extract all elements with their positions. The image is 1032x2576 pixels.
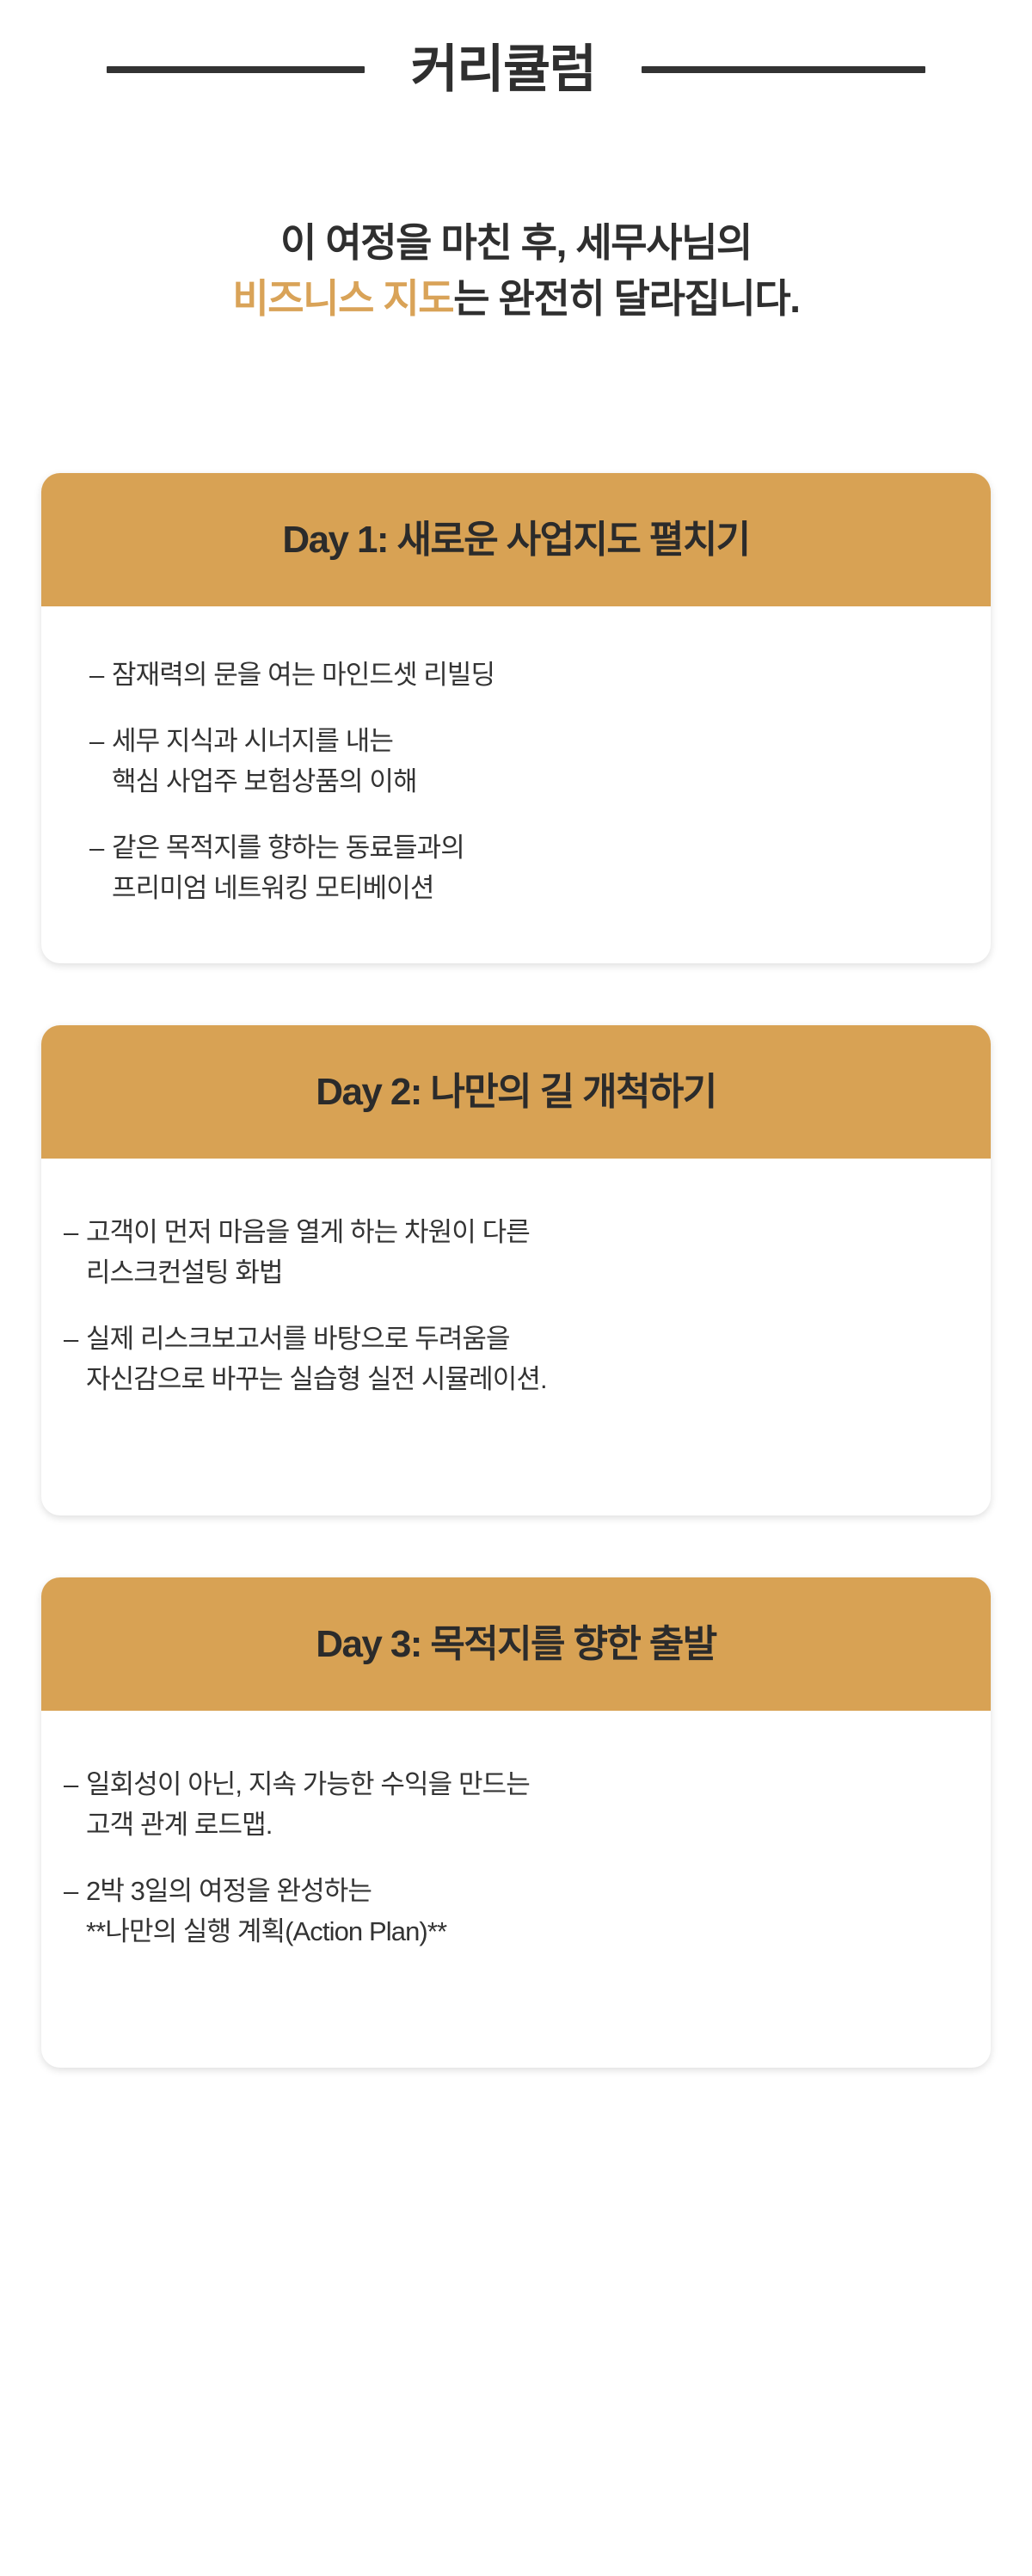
- list-item-text: 실제 리스크보고서를 바탕으로 두려움을 자신감으로 바꾸는 실습형 실전 시뮬…: [86, 1319, 943, 1399]
- list-item-text: 잠재력의 문을 여는 마인드셋 리빌딩: [112, 655, 943, 695]
- curriculum-page: 커리큘럼 이 여정을 마친 후, 세무사님의 비즈니스 지도는 완전히 달라집니…: [0, 0, 1032, 2576]
- curriculum-card-list: Day 1: 새로운 사업지도 펼치기 – 잠재력의 문을 여는 마인드셋 리빌…: [41, 473, 991, 2068]
- card-header-day-3: Day 3: 목적지를 향한 출발: [41, 1577, 991, 1711]
- card-title-day-1: Day 1: 새로운 사업지도 펼치기: [282, 521, 749, 559]
- dash-bullet-icon: –: [64, 1212, 86, 1252]
- card-header-day-2: Day 2: 나만의 길 개척하기: [41, 1025, 991, 1159]
- curriculum-card-day-2: Day 2: 나만의 길 개척하기 – 고객이 먼저 마음을 열게 하는 차원이…: [41, 1025, 991, 1515]
- dash-bullet-icon: –: [64, 1871, 86, 1911]
- subtitle-rest-text: 는 완전히 달라집니다.: [453, 276, 799, 321]
- subtitle-line-2: 비즈니스 지도는 완전히 달라집니다.: [0, 271, 1032, 327]
- list-item: – 일회성이 아닌, 지속 가능한 수익을 만드는 고객 관계 로드맵.: [64, 1764, 943, 1845]
- card-body-day-1: – 잠재력의 문을 여는 마인드셋 리빌딩 – 세무 지식과 시너지를 내는 핵…: [41, 606, 991, 963]
- list-item-text: 같은 목적지를 향하는 동료들과의 프리미엄 네트워킹 모티베이션: [112, 827, 943, 908]
- list-item: – 2박 3일의 여정을 완성하는 **나만의 실행 계획(Action Pla…: [64, 1871, 943, 1952]
- list-item: – 같은 목적지를 향하는 동료들과의 프리미엄 네트워킹 모티베이션: [89, 827, 943, 908]
- list-item-text: 2박 3일의 여정을 완성하는 **나만의 실행 계획(Action Plan)…: [86, 1871, 943, 1952]
- dash-bullet-icon: –: [89, 655, 112, 695]
- subtitle-line-1: 이 여정을 마친 후, 세무사님의: [0, 215, 1032, 271]
- header-rule-right-icon: [642, 66, 925, 73]
- curriculum-card-day-3: Day 3: 목적지를 향한 출발 – 일회성이 아닌, 지속 가능한 수익을 …: [41, 1577, 991, 2068]
- dash-bullet-icon: –: [64, 1764, 86, 1804]
- bullet-list-day-1: – 잠재력의 문을 여는 마인드셋 리빌딩 – 세무 지식과 시너지를 내는 핵…: [89, 655, 943, 909]
- list-item-text: 고객이 먼저 마음을 열게 하는 차원이 다른 리스크컨설팅 화법: [86, 1212, 943, 1293]
- list-item: – 세무 지식과 시너지를 내는 핵심 사업주 보험상품의 이해: [89, 721, 943, 802]
- page-header: 커리큘럼: [0, 24, 1032, 114]
- subtitle: 이 여정을 마친 후, 세무사님의 비즈니스 지도는 완전히 달라집니다.: [0, 215, 1032, 328]
- bullet-list-day-3: – 일회성이 아닌, 지속 가능한 수익을 만드는 고객 관계 로드맵. – 2…: [64, 1764, 943, 1952]
- list-item: – 실제 리스크보고서를 바탕으로 두려움을 자신감으로 바꾸는 실습형 실전 …: [64, 1319, 943, 1399]
- subtitle-accent-text: 비즈니스 지도: [232, 276, 453, 321]
- dash-bullet-icon: –: [89, 827, 112, 868]
- card-body-day-2: – 고객이 먼저 마음을 열게 하는 차원이 다른 리스크컨설팅 화법 – 실제…: [41, 1159, 991, 1515]
- card-header-day-1: Day 1: 새로운 사업지도 펼치기: [41, 473, 991, 606]
- card-title-day-3: Day 3: 목적지를 향한 출발: [316, 1626, 716, 1663]
- header-rule-left-icon: [107, 66, 365, 73]
- card-body-day-3: – 일회성이 아닌, 지속 가능한 수익을 만드는 고객 관계 로드맵. – 2…: [41, 1711, 991, 2068]
- card-title-day-2: Day 2: 나만의 길 개척하기: [316, 1073, 716, 1111]
- bullet-list-day-2: – 고객이 먼저 마음을 열게 하는 차원이 다른 리스크컨설팅 화법 – 실제…: [64, 1212, 943, 1399]
- curriculum-card-day-1: Day 1: 새로운 사업지도 펼치기 – 잠재력의 문을 여는 마인드셋 리빌…: [41, 473, 991, 963]
- list-item-text: 세무 지식과 시너지를 내는 핵심 사업주 보험상품의 이해: [112, 721, 943, 802]
- page-title: 커리큘럼: [411, 44, 596, 95]
- dash-bullet-icon: –: [64, 1319, 86, 1359]
- dash-bullet-icon: –: [89, 721, 112, 761]
- list-item: – 잠재력의 문을 여는 마인드셋 리빌딩: [89, 655, 943, 695]
- list-item-text: 일회성이 아닌, 지속 가능한 수익을 만드는 고객 관계 로드맵.: [86, 1764, 943, 1845]
- list-item: – 고객이 먼저 마음을 열게 하는 차원이 다른 리스크컨설팅 화법: [64, 1212, 943, 1293]
